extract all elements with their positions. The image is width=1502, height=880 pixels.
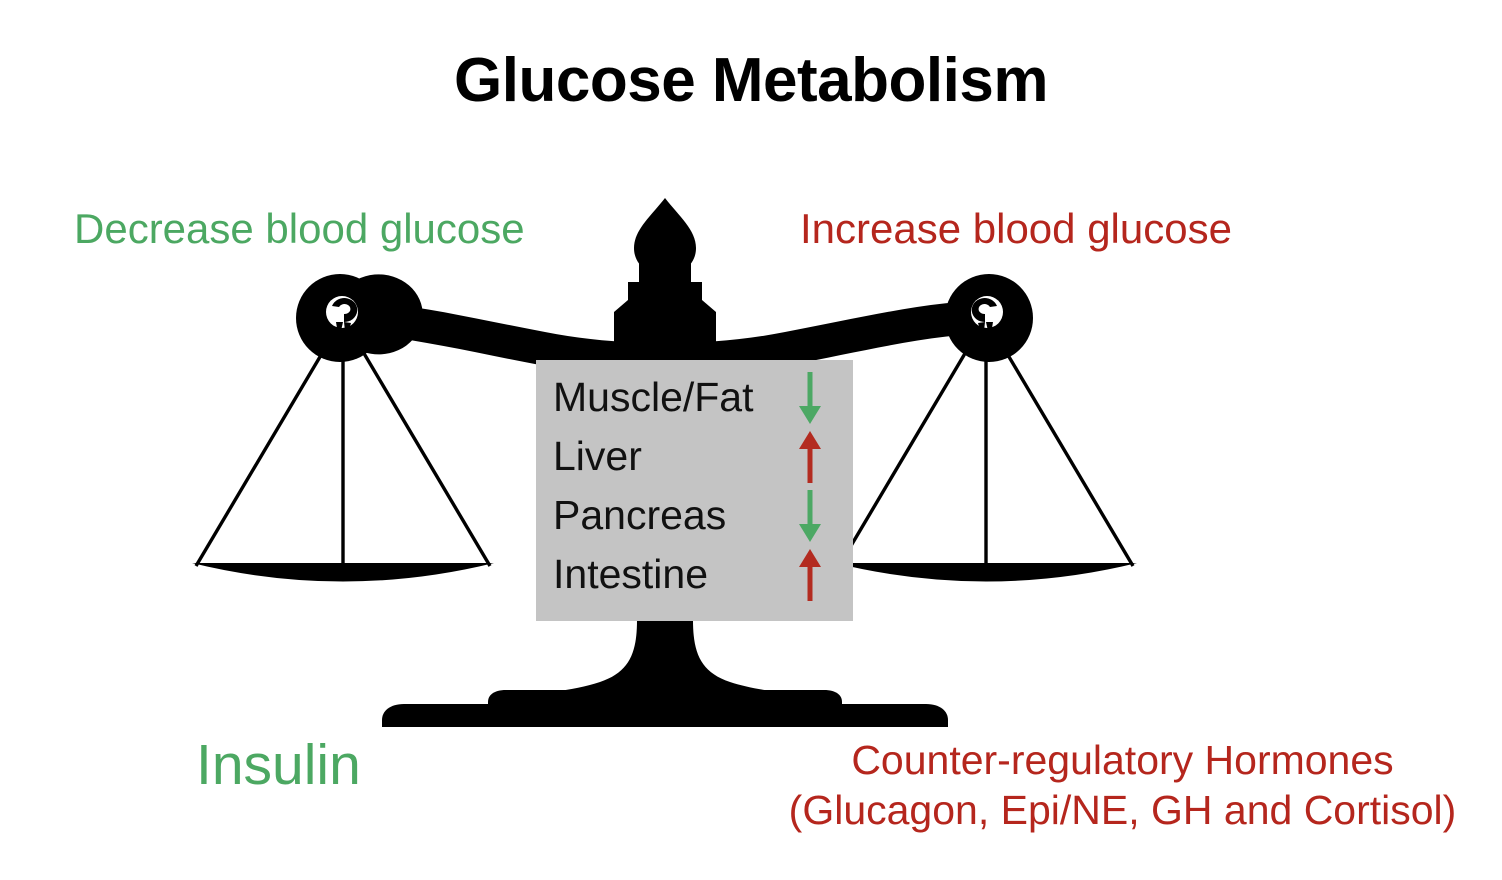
organ-row: Liver <box>536 427 853 486</box>
beam-scroll-right <box>945 274 1033 362</box>
arrow-up-icon <box>795 429 825 485</box>
counter-hormones-line1: Counter-regulatory Hormones <box>745 735 1500 785</box>
organ-label: Pancreas <box>553 495 726 536</box>
organ-effects-panel: Muscle/Fat Liver Pancreas <box>536 360 853 621</box>
organ-label: Intestine <box>553 554 708 595</box>
right-pan <box>835 318 1137 582</box>
organ-label: Muscle/Fat <box>553 377 754 418</box>
label-insulin: Insulin <box>196 736 361 796</box>
caption-decrease-blood-glucose: Decrease blood glucose <box>74 207 525 251</box>
organ-label: Liver <box>553 436 642 477</box>
arrow-down-icon <box>795 370 825 426</box>
organ-row: Pancreas <box>536 486 853 545</box>
caption-increase-blood-glucose: Increase blood glucose <box>800 207 1232 251</box>
scale-base <box>382 620 948 727</box>
page-title: Glucose Metabolism <box>0 48 1502 113</box>
organ-row: Intestine <box>536 545 853 604</box>
counter-hormones-line2: (Glucagon, Epi/NE, GH and Cortisol) <box>745 785 1500 835</box>
organ-row: Muscle/Fat <box>536 368 853 427</box>
scale-finial <box>634 198 696 310</box>
slide-canvas: Glucose Metabolism <box>0 0 1502 880</box>
left-pan <box>192 318 494 582</box>
arrow-down-icon <box>795 488 825 544</box>
arrow-up-icon <box>795 547 825 603</box>
label-counter-regulatory-hormones: Counter-regulatory Hormones (Glucagon, E… <box>745 735 1500 835</box>
beam-scroll-left <box>296 274 423 362</box>
